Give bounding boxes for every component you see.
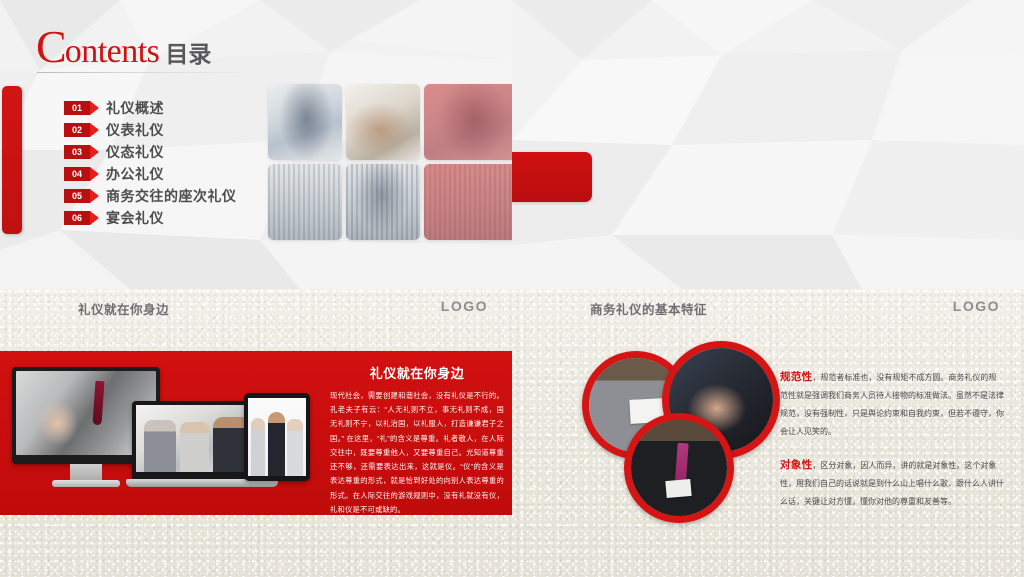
list-item-label: 宴会礼仪 — [106, 208, 164, 228]
item-number-badge: 04 — [64, 167, 90, 181]
slide-deck: C ontents 目录 01 礼仪概述 02 仪表礼仪 03 仪态礼仪 04 … — [0, 0, 1024, 577]
slide-etiquette-around-you[interactable]: 礼仪就在你身边 LOGO — [0, 289, 512, 577]
list-item[interactable]: 03 仪态礼仪 — [64, 141, 294, 162]
collage-tile-handshake — [346, 84, 420, 160]
slide-business-etiquette-features[interactable]: 商务礼仪的基本特征 LOGO 规范性，规范者标准也，没有规矩不成方圆。商务礼仪的… — [512, 289, 1024, 577]
red-content-panel: 礼仪就在你身边 现代社会，需要创建和谐社会，没有礼仪是不行的。孔老夫子有云：“人… — [0, 351, 512, 515]
slide-header: 商务礼仪的基本特征 LOGO — [512, 289, 1024, 327]
collage-tile-cityscape — [268, 164, 342, 240]
feature-keyword: 规范性 — [780, 371, 812, 383]
list-item[interactable]: 06 宴会礼仪 — [64, 207, 294, 228]
title-text: ontents — [65, 35, 160, 69]
item-number-badge: 06 — [64, 211, 90, 225]
left-red-block — [512, 152, 592, 202]
title-divider — [37, 72, 249, 73]
list-item[interactable]: 02 仪表礼仪 — [64, 119, 294, 140]
feature-block: 对象性，区分对象，因人而异，讲的就是对象性。这个对象性，用我们自己的话说就是到什… — [780, 455, 1004, 509]
title-chinese: 目录 — [165, 43, 211, 66]
list-item-label: 礼仪概述 — [106, 98, 164, 118]
list-item[interactable]: 01 礼仪概述 — [64, 97, 294, 118]
slide-contents[interactable]: C ontents 目录 01 礼仪概述 02 仪表礼仪 03 仪态礼仪 04 … — [0, 0, 512, 289]
header-title: 商务礼仪的基本特征 — [590, 299, 707, 318]
polygon-background — [512, 0, 1024, 289]
item-number-badge: 01 — [64, 101, 90, 115]
collage-tile-businessman-red — [424, 84, 512, 160]
list-item-label: 仪表礼仪 — [106, 120, 164, 140]
red-accent-bar — [2, 86, 22, 234]
header-title: 礼仪就在你身边 — [78, 299, 169, 318]
page-title: C ontents 目录 — [36, 24, 211, 70]
list-item[interactable]: 04 办公礼仪 — [64, 163, 294, 184]
feature-block: 规范性，规范者标准也，没有规矩不成方圆。商务礼仪的规范性就是强调我们商务人员待人… — [780, 367, 1004, 439]
panel-title: 礼仪就在你身边 — [330, 363, 504, 382]
logo-placeholder: LOGO — [441, 298, 488, 314]
collage-tile-cityscape-red — [424, 164, 512, 240]
list-item-label: 办公礼仪 — [106, 164, 164, 184]
feature-body: ，区分对象，因人而异，讲的就是对象性。这个对象性，用我们自己的话说就是到什么山上… — [780, 461, 1004, 506]
slide-section-divider[interactable]: PART 礼仪概述 01 礼仪就在你身边 商务礼仪的基本特征 学习礼仪的三个作用… — [512, 0, 1024, 289]
logo-placeholder: LOGO — [953, 298, 1000, 314]
item-number-badge: 05 — [64, 189, 90, 203]
feature-keyword: 对象性 — [780, 459, 812, 471]
slide-header: 礼仪就在你身边 LOGO — [0, 289, 512, 327]
list-item-label: 商务交往的座次礼仪 — [106, 186, 237, 206]
collage-tile-businessman-sky — [268, 84, 342, 160]
list-item-label: 仪态礼仪 — [106, 142, 164, 162]
circle-photo-businessman-tie-card — [624, 413, 734, 523]
collage-tile-city-businessman — [346, 164, 420, 240]
list-item[interactable]: 05 商务交往的座次礼仪 — [64, 185, 294, 206]
tablet — [244, 393, 310, 481]
panel-body: 现代社会，需要创建和谐社会，没有礼仪是不行的。孔老夫子有云：“人无礼则不立，事无… — [330, 389, 504, 517]
feature-text-blocks: 规范性，规范者标准也，没有规矩不成方圆。商务礼仪的规范性就是强调我们商务人员待人… — [780, 367, 1004, 525]
image-collage — [268, 84, 512, 240]
device-mockup-group — [8, 363, 308, 503]
item-number-badge: 03 — [64, 145, 90, 159]
title-initial: C — [36, 24, 66, 70]
panel-text: 礼仪就在你身边 现代社会，需要创建和谐社会，没有礼仪是不行的。孔老夫子有云：“人… — [330, 363, 504, 517]
feature-body: ，规范者标准也，没有规矩不成方圆。商务礼仪的规范性就是强调我们商务人员待人接物的… — [780, 373, 1004, 436]
contents-list: 01 礼仪概述 02 仪表礼仪 03 仪态礼仪 04 办公礼仪 05 商务交往的… — [64, 97, 294, 229]
circle-photo-group — [574, 341, 794, 526]
item-number-badge: 02 — [64, 123, 90, 137]
